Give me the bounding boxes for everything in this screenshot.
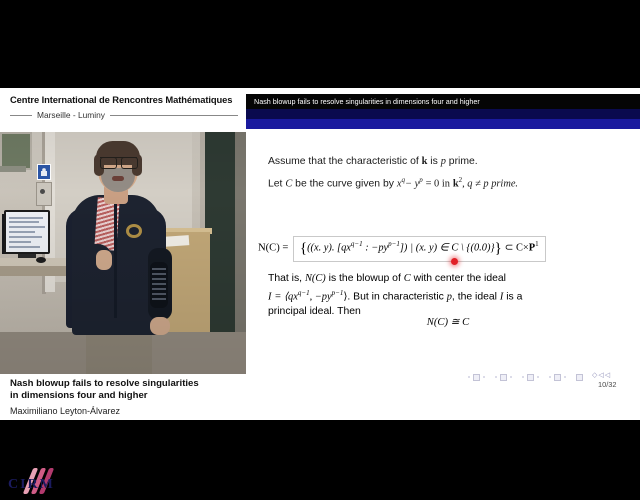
that-is-text: That is, [268, 273, 302, 284]
nav-dot[interactable] [483, 376, 485, 378]
ideal-I-2: I [500, 291, 503, 302]
nav-dot[interactable] [522, 376, 524, 378]
institution-header: Centre International de Rencontres Mathé… [0, 88, 246, 132]
boxed-equation: {((x. y). [qxq−1 : −pyp−1]) | (x. y) ∈ C… [293, 236, 546, 262]
center-ideal-text: with center the ideal [414, 273, 506, 284]
set-point: ((x. y). [qx [307, 242, 351, 253]
nav-section-box[interactable] [500, 374, 507, 381]
blowup-text: is the blowup of [329, 273, 401, 284]
presentation-slide: Nash blowup fails to resolve singulariti… [246, 88, 640, 420]
rule-left [10, 115, 32, 116]
centered-equation: N(C) ≅ C [268, 316, 628, 328]
curve-minus-y: − y [405, 178, 419, 189]
ideal-I: I [268, 291, 271, 302]
nav-section-box[interactable] [554, 374, 561, 381]
nav-dot[interactable] [549, 376, 551, 378]
brace-close: } [495, 240, 502, 256]
field-k: k [422, 156, 428, 167]
set-exp-2: p−1 [388, 240, 400, 248]
talk-title-line2: in dimensions four and higher [10, 390, 148, 401]
laser-pointer-dot [451, 258, 458, 265]
nav-dot[interactable] [510, 376, 512, 378]
ideal-exp-1: q−1 [298, 289, 310, 297]
assume-text-2: is [430, 156, 438, 167]
boxed-eq-lhs: N(C) = [258, 242, 288, 253]
set-exp-1: q−1 [351, 240, 363, 248]
projective-dim: 1 [535, 240, 539, 248]
slide-paragraph-2: That is, N(C) is the blowup of C with ce… [268, 271, 628, 319]
video-panel: Centre International de Rencontres Mathé… [0, 88, 246, 420]
ideal-close-text: ⟩. But in characteristic [343, 291, 444, 302]
page-number: 10/32 [598, 380, 617, 389]
NC-symbol: N(C) [305, 273, 326, 284]
brace-open: { [300, 240, 307, 256]
let-text-2: be the curve given by [295, 178, 394, 189]
statement-assume: Assume that the characteristic of k is p… [268, 154, 628, 169]
blowup-line-2: I = ⟨qxq−1, −pyp−1⟩. But in characterist… [268, 286, 628, 304]
subset-rel: ⊂ C× [505, 242, 529, 253]
slide-header-navy-band [246, 109, 640, 119]
boxed-equation-wrap: N(C) = {((x. y). [qxq−1 : −pyp−1]) | (x.… [258, 236, 630, 262]
slide-header-blue-band [246, 119, 640, 129]
ideal-exp-2: p−1 [332, 289, 344, 297]
set-mid: : −py [363, 242, 388, 253]
curve-q-ne-p: , q ≠ p prime. [462, 178, 518, 189]
ideal-gen-2: , −py [310, 291, 332, 302]
statement-curve: Let C be the curve given by xq− yp = 0 i… [268, 173, 628, 191]
slide-nav-icons[interactable]: ◇◁◁ [592, 371, 611, 379]
talk-info: Nash blowup fails to resolve singulariti… [0, 374, 246, 420]
nav-dot[interactable] [564, 376, 566, 378]
nav-section-box-current[interactable] [576, 374, 583, 381]
NC-iso-C: N(C) ≅ C [427, 317, 469, 328]
ideal-gen-1: = ⟨qx [274, 291, 297, 302]
curve-equals-zero: = 0 in [426, 178, 450, 189]
lecture-video[interactable] [0, 132, 246, 374]
curve-exp-p: p [419, 176, 423, 184]
the-ideal-text: , the ideal [452, 291, 497, 302]
nav-section-box[interactable] [527, 374, 534, 381]
nav-dot[interactable] [495, 376, 497, 378]
slide-body: Assume that the characteristic of k is p… [268, 154, 628, 191]
C-symbol: C [404, 273, 411, 284]
talk-author: Maximiliano Leyton-Álvarez [10, 406, 120, 416]
content-band: Centre International de Rencontres Mathé… [0, 88, 640, 420]
logo-text: CIRM [8, 477, 55, 493]
set-condition: | (x. y) ∈ C \ {(0.0)} [410, 242, 494, 253]
let-text-1: Let [268, 178, 282, 189]
nav-dot[interactable] [468, 376, 470, 378]
assume-text-1: Assume that the characteristic of [268, 156, 419, 167]
nav-section-box[interactable] [473, 374, 480, 381]
char-p: p [441, 156, 446, 167]
talk-title: Nash blowup fails to resolve singulariti… [10, 378, 236, 401]
slide-header-title: Nash blowup fails to resolve singulariti… [254, 97, 480, 106]
video-vignette [0, 132, 246, 374]
cirm-logo: CIRM [6, 466, 76, 500]
nav-dot[interactable] [537, 376, 539, 378]
screenshot-root: Centre International de Rencontres Mathé… [0, 0, 640, 480]
assume-text-3: prime. [449, 156, 478, 167]
curve-C: C [285, 178, 292, 189]
talk-title-line1: Nash blowup fails to resolve singulariti… [10, 378, 199, 389]
institution-name: Centre International de Rencontres Mathé… [10, 94, 238, 105]
institution-location: Marseille - Luminy [37, 110, 105, 120]
blowup-line-1: That is, N(C) is the blowup of C with ce… [268, 271, 628, 286]
institution-location-row: Marseille - Luminy [10, 109, 238, 121]
rule-right [110, 115, 238, 116]
is-a-text: is a [506, 291, 522, 302]
set-close: ]) [400, 242, 408, 253]
